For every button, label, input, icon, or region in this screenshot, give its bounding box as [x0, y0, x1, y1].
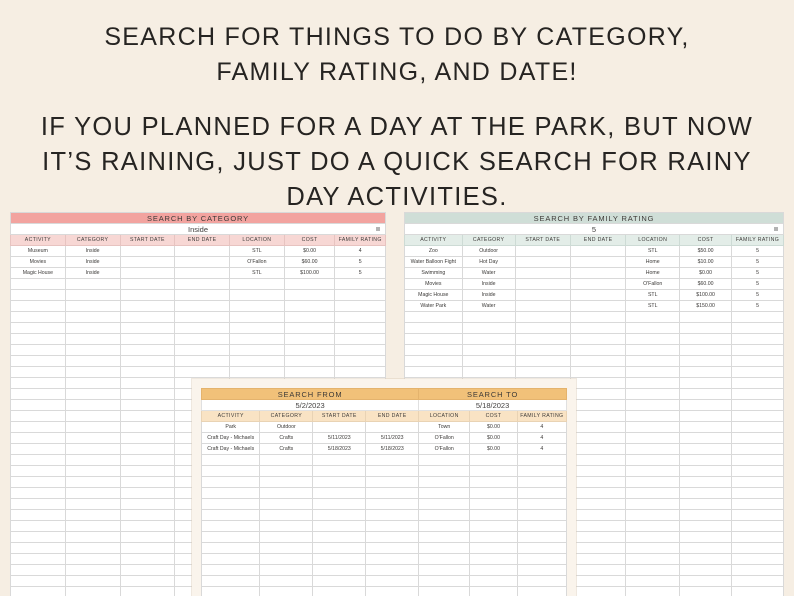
empty-cell — [680, 554, 732, 565]
empty-cell — [470, 554, 517, 565]
empty-cell — [335, 290, 386, 301]
empty-cell — [517, 455, 566, 466]
dropdown-caret-icon[interactable] — [774, 227, 778, 231]
empty-cell — [570, 400, 625, 411]
empty-cell — [313, 510, 366, 521]
empty-cell — [732, 378, 784, 389]
empty-cell — [65, 411, 120, 422]
table-cell: 5 — [335, 268, 386, 279]
empty-cell — [462, 312, 515, 323]
empty-cell — [570, 543, 625, 554]
empty-row — [11, 290, 386, 301]
column-header: COST — [284, 235, 335, 246]
empty-cell — [175, 356, 230, 367]
empty-cell — [120, 367, 175, 378]
empty-cell — [570, 587, 625, 596]
empty-cell — [120, 576, 175, 587]
empty-cell — [570, 488, 625, 499]
empty-cell — [626, 510, 680, 521]
table-cell: $50.00 — [680, 246, 732, 257]
empty-cell — [120, 510, 175, 521]
rating-filter-value: 5 — [592, 225, 596, 234]
empty-cell — [65, 290, 120, 301]
empty-cell — [366, 532, 419, 543]
table-cell: $60.00 — [284, 257, 335, 268]
empty-cell — [419, 565, 470, 576]
empty-cell — [366, 521, 419, 532]
empty-cell — [419, 477, 470, 488]
headline-primary: SEARCH FOR THINGS TO DO BY CATEGORY, FAM… — [24, 20, 770, 90]
empty-cell — [313, 455, 366, 466]
empty-cell — [335, 279, 386, 290]
empty-cell — [570, 433, 625, 444]
table-cell: STL — [626, 301, 680, 312]
empty-cell — [570, 576, 625, 587]
table-cell — [366, 422, 419, 433]
empty-cell — [202, 466, 260, 477]
empty-cell — [462, 356, 515, 367]
empty-cell — [626, 411, 680, 422]
empty-cell — [680, 367, 732, 378]
empty-cell — [732, 488, 784, 499]
column-header: COST — [470, 411, 517, 422]
empty-cell — [570, 521, 625, 532]
empty-cell — [230, 279, 285, 290]
empty-cell — [11, 345, 66, 356]
column-header: CATEGORY — [260, 411, 313, 422]
empty-cell — [120, 466, 175, 477]
empty-cell — [517, 576, 566, 587]
empty-cell — [732, 433, 784, 444]
empty-row — [11, 279, 386, 290]
table-cell: Crafts — [260, 433, 313, 444]
empty-cell — [11, 323, 66, 334]
empty-cell — [120, 499, 175, 510]
empty-row — [405, 345, 784, 356]
category-filter-select[interactable]: Inside — [11, 224, 386, 235]
empty-cell — [202, 488, 260, 499]
empty-cell — [11, 543, 66, 554]
empty-cell — [202, 587, 260, 596]
table-row: SwimmingWaterHome$0.005 — [405, 268, 784, 279]
column-header: END DATE — [175, 235, 230, 246]
empty-cell — [419, 532, 470, 543]
empty-cell — [11, 576, 66, 587]
date-body: ParkOutdoorTown$0.004Craft Day - Michael… — [202, 422, 567, 455]
empty-cell — [260, 455, 313, 466]
empty-cell — [366, 565, 419, 576]
empty-cell — [680, 576, 732, 587]
column-header: LOCATION — [419, 411, 470, 422]
table-cell: Swimming — [405, 268, 463, 279]
empty-cell — [120, 532, 175, 543]
empty-cell — [680, 312, 732, 323]
table-cell: Craft Day - Michaels — [202, 444, 260, 455]
empty-cell — [462, 367, 515, 378]
table-cell: Inside — [65, 246, 120, 257]
table-cell: Water — [462, 268, 515, 279]
empty-cell — [570, 367, 625, 378]
empty-cell — [284, 290, 335, 301]
empty-cell — [517, 466, 566, 477]
empty-cell — [680, 455, 732, 466]
date-banner-to-label: SEARCH TO — [419, 389, 567, 400]
table-cell: 4 — [335, 246, 386, 257]
empty-row — [11, 312, 386, 323]
column-header: FAMILY RATING — [517, 411, 566, 422]
empty-cell — [570, 466, 625, 477]
empty-cell — [626, 488, 680, 499]
date-column-header-row: ACTIVITYCATEGORYSTART DATEEND DATELOCATI… — [202, 411, 567, 422]
category-banner-row: SEARCH BY CATEGORY — [11, 213, 386, 224]
empty-cell — [120, 356, 175, 367]
empty-cell — [335, 334, 386, 345]
empty-cell — [626, 565, 680, 576]
empty-cell — [120, 389, 175, 400]
table-cell — [120, 246, 175, 257]
empty-cell — [284, 367, 335, 378]
empty-row — [202, 565, 567, 576]
table-cell: O'Fallon — [230, 257, 285, 268]
search-by-date-sheet: SEARCH FROM SEARCH TO 5/2/2023 5/18/2023… — [201, 388, 567, 596]
date-table: SEARCH FROM SEARCH TO 5/2/2023 5/18/2023… — [201, 388, 567, 596]
table-cell: $10.00 — [680, 257, 732, 268]
date-filter-row[interactable]: 5/2/2023 5/18/2023 — [202, 400, 567, 411]
empty-row — [202, 466, 567, 477]
rating-filter-row[interactable]: 5 — [405, 224, 784, 235]
category-filter-row[interactable]: Inside — [11, 224, 386, 235]
empty-cell — [260, 466, 313, 477]
empty-cell — [570, 411, 625, 422]
table-row: Craft Day - MichaelsCrafts5/18/20235/18/… — [202, 444, 567, 455]
empty-cell — [470, 521, 517, 532]
column-header: FAMILY RATING — [732, 235, 784, 246]
empty-cell — [732, 543, 784, 554]
empty-cell — [680, 389, 732, 400]
table-cell: 5/18/2023 — [366, 444, 419, 455]
column-header: ACTIVITY — [11, 235, 66, 246]
empty-cell — [11, 466, 66, 477]
empty-cell — [313, 499, 366, 510]
empty-cell — [570, 422, 625, 433]
empty-cell — [732, 510, 784, 521]
date-to-input[interactable]: 5/18/2023 — [419, 400, 567, 411]
table-cell: Water Balloon Fight — [405, 257, 463, 268]
empty-cell — [202, 455, 260, 466]
table-cell: 4 — [517, 422, 566, 433]
empty-cell — [626, 455, 680, 466]
column-header: ACTIVITY — [405, 235, 463, 246]
table-cell: Craft Day - Michaels — [202, 433, 260, 444]
rating-body: ZooOutdoorSTL$50.005Water Balloon FightH… — [405, 246, 784, 312]
date-from-input[interactable]: 5/2/2023 — [202, 400, 419, 411]
column-header: START DATE — [120, 235, 175, 246]
table-cell: $0.00 — [470, 422, 517, 433]
empty-cell — [120, 290, 175, 301]
empty-cell — [570, 532, 625, 543]
empty-cell — [732, 323, 784, 334]
empty-cell — [419, 576, 470, 587]
empty-cell — [335, 345, 386, 356]
empty-cell — [680, 334, 732, 345]
table-cell: Hot Day — [462, 257, 515, 268]
empty-cell — [313, 587, 366, 596]
empty-cell — [65, 345, 120, 356]
empty-cell — [260, 532, 313, 543]
empty-cell — [680, 477, 732, 488]
empty-cell — [65, 334, 120, 345]
empty-cell — [515, 345, 570, 356]
empty-cell — [11, 279, 66, 290]
table-row: Water ParkWaterSTL$150.005 — [405, 301, 784, 312]
empty-cell — [366, 587, 419, 596]
empty-cell — [570, 455, 625, 466]
table-cell: $100.00 — [284, 268, 335, 279]
empty-cell — [175, 279, 230, 290]
empty-cell — [313, 488, 366, 499]
empty-cell — [732, 345, 784, 356]
empty-cell — [284, 312, 335, 323]
date-banner-row: SEARCH FROM SEARCH TO — [202, 389, 567, 400]
empty-cell — [175, 301, 230, 312]
empty-cell — [570, 323, 625, 334]
empty-cell — [120, 521, 175, 532]
empty-cell — [11, 565, 66, 576]
empty-cell — [570, 345, 625, 356]
empty-cell — [517, 488, 566, 499]
empty-cell — [470, 466, 517, 477]
table-cell: Inside — [65, 268, 120, 279]
column-header: FAMILY RATING — [335, 235, 386, 246]
empty-cell — [515, 356, 570, 367]
empty-cell — [11, 554, 66, 565]
empty-cell — [284, 301, 335, 312]
empty-cell — [366, 510, 419, 521]
empty-cell — [366, 499, 419, 510]
empty-cell — [65, 521, 120, 532]
empty-cell — [570, 499, 625, 510]
table-cell: $0.00 — [470, 444, 517, 455]
table-cell: Water Park — [405, 301, 463, 312]
empty-cell — [11, 587, 66, 596]
empty-cell — [11, 477, 66, 488]
empty-cell — [470, 565, 517, 576]
empty-cell — [732, 576, 784, 587]
empty-cell — [230, 345, 285, 356]
empty-cell — [626, 345, 680, 356]
empty-cell — [230, 312, 285, 323]
empty-cell — [65, 543, 120, 554]
empty-cell — [11, 389, 66, 400]
empty-cell — [626, 477, 680, 488]
column-header: COST — [680, 235, 732, 246]
empty-cell — [230, 323, 285, 334]
empty-cell — [732, 532, 784, 543]
empty-cell — [515, 334, 570, 345]
empty-cell — [732, 455, 784, 466]
table-cell: $100.00 — [680, 290, 732, 301]
empty-cell — [313, 554, 366, 565]
empty-cell — [11, 334, 66, 345]
empty-cell — [313, 477, 366, 488]
empty-cell — [732, 477, 784, 488]
empty-cell — [732, 367, 784, 378]
table-cell: Museum — [11, 246, 66, 257]
dropdown-caret-icon[interactable] — [376, 227, 380, 231]
empty-cell — [175, 334, 230, 345]
table-cell — [570, 290, 625, 301]
empty-cell — [680, 378, 732, 389]
empty-cell — [626, 356, 680, 367]
empty-cell — [11, 433, 66, 444]
empty-cell — [732, 587, 784, 596]
empty-cell — [570, 444, 625, 455]
empty-cell — [626, 312, 680, 323]
table-cell: O'Fallon — [419, 444, 470, 455]
empty-cell — [313, 532, 366, 543]
date-banner-from-label: SEARCH FROM — [202, 389, 419, 400]
empty-cell — [419, 521, 470, 532]
table-cell: STL — [230, 246, 285, 257]
category-column-header-row: ACTIVITYCATEGORYSTART DATEEND DATELOCATI… — [11, 235, 386, 246]
table-cell: O'Fallon — [419, 433, 470, 444]
empty-cell — [65, 301, 120, 312]
column-header: CATEGORY — [65, 235, 120, 246]
empty-cell — [11, 400, 66, 411]
empty-row — [11, 301, 386, 312]
empty-cell — [517, 499, 566, 510]
empty-cell — [120, 455, 175, 466]
empty-cell — [680, 565, 732, 576]
empty-row — [202, 455, 567, 466]
empty-cell — [366, 455, 419, 466]
empty-cell — [626, 543, 680, 554]
empty-cell — [65, 444, 120, 455]
empty-cell — [11, 488, 66, 499]
empty-row — [202, 477, 567, 488]
table-cell: $0.00 — [680, 268, 732, 279]
table-cell: STL — [626, 246, 680, 257]
table-cell: Inside — [65, 257, 120, 268]
empty-cell — [202, 543, 260, 554]
empty-cell — [732, 466, 784, 477]
empty-cell — [470, 510, 517, 521]
table-cell: Park — [202, 422, 260, 433]
empty-cell — [470, 543, 517, 554]
empty-row — [11, 345, 386, 356]
table-cell: 5/11/2023 — [366, 433, 419, 444]
empty-cell — [570, 334, 625, 345]
empty-cell — [517, 543, 566, 554]
table-cell: 5 — [732, 290, 784, 301]
empty-cell — [260, 477, 313, 488]
empty-cell — [366, 554, 419, 565]
empty-cell — [366, 576, 419, 587]
empty-cell — [680, 400, 732, 411]
empty-cell — [470, 488, 517, 499]
empty-cell — [120, 334, 175, 345]
empty-cell — [517, 565, 566, 576]
empty-cell — [570, 510, 625, 521]
empty-cell — [65, 400, 120, 411]
table-cell: $0.00 — [470, 433, 517, 444]
empty-cell — [65, 279, 120, 290]
empty-cell — [11, 378, 66, 389]
empty-cell — [202, 554, 260, 565]
empty-cell — [202, 565, 260, 576]
empty-cell — [335, 301, 386, 312]
empty-cell — [120, 444, 175, 455]
empty-cell — [680, 488, 732, 499]
empty-cell — [626, 554, 680, 565]
empty-cell — [626, 389, 680, 400]
empty-row — [11, 356, 386, 367]
empty-row — [202, 510, 567, 521]
table-cell: O'Fallon — [626, 279, 680, 290]
empty-cell — [284, 334, 335, 345]
rating-banner-row: SEARCH BY FAMILY RATING — [405, 213, 784, 224]
empty-cell — [65, 565, 120, 576]
empty-cell — [230, 301, 285, 312]
table-cell: $60.00 — [680, 279, 732, 290]
empty-cell — [517, 532, 566, 543]
table-cell: 5 — [335, 257, 386, 268]
table-cell — [120, 257, 175, 268]
empty-cell — [120, 312, 175, 323]
table-cell — [175, 268, 230, 279]
empty-cell — [120, 378, 175, 389]
empty-cell — [202, 576, 260, 587]
empty-cell — [65, 378, 120, 389]
column-header: ACTIVITY — [202, 411, 260, 422]
empty-cell — [680, 422, 732, 433]
table-row: ParkOutdoorTown$0.004 — [202, 422, 567, 433]
empty-cell — [120, 477, 175, 488]
table-cell: 5 — [732, 279, 784, 290]
table-cell: STL — [626, 290, 680, 301]
empty-cell — [732, 389, 784, 400]
table-cell — [570, 268, 625, 279]
empty-cell — [65, 554, 120, 565]
empty-row — [202, 576, 567, 587]
empty-cell — [11, 301, 66, 312]
empty-cell — [517, 477, 566, 488]
table-cell: Movies — [11, 257, 66, 268]
empty-cell — [230, 334, 285, 345]
empty-cell — [680, 466, 732, 477]
table-cell — [570, 246, 625, 257]
table-cell — [515, 279, 570, 290]
empty-row — [202, 554, 567, 565]
empty-cell — [462, 323, 515, 334]
empty-cell — [11, 367, 66, 378]
empty-cell — [65, 433, 120, 444]
table-row: Magic HouseInsideSTL$100.005 — [405, 290, 784, 301]
table-cell — [175, 257, 230, 268]
empty-cell — [175, 345, 230, 356]
empty-cell — [65, 312, 120, 323]
table-cell: 5 — [732, 268, 784, 279]
rating-filter-select[interactable]: 5 — [405, 224, 784, 235]
empty-cell — [65, 488, 120, 499]
empty-cell — [626, 499, 680, 510]
empty-row — [405, 367, 784, 378]
empty-cell — [120, 433, 175, 444]
empty-cell — [680, 521, 732, 532]
empty-cell — [570, 378, 625, 389]
empty-cell — [732, 400, 784, 411]
empty-cell — [419, 488, 470, 499]
